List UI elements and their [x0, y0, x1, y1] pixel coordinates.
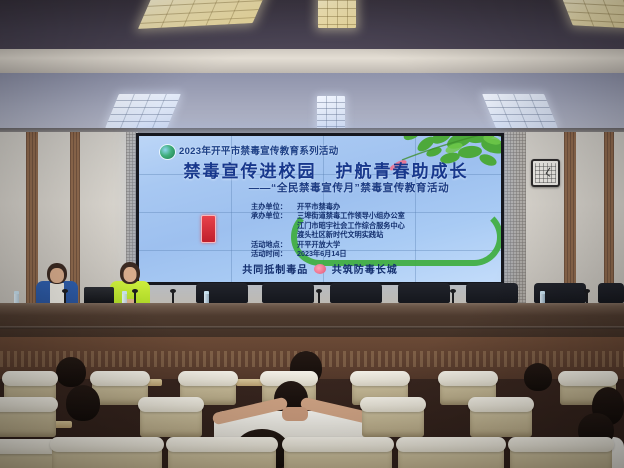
stage-chair [466, 283, 518, 303]
seat-cover [282, 437, 394, 452]
seat-cover [90, 371, 150, 386]
clock-face [535, 163, 556, 183]
projection-screen: 2023年开平市禁毒宣传教育系列活动 禁毒宣传进校园 护航青春助成长 ——“全民… [136, 133, 504, 285]
seat-cover [166, 437, 278, 452]
info-value: 渡头社区新时代文明实践站 [297, 230, 383, 239]
info-row: 承办单位： 三埠街道禁毒工作领导小组办公室 [251, 211, 405, 220]
info-value: 2023年6月14日 [297, 249, 347, 258]
info-row: 活动地点： 开平开放大学 [251, 240, 405, 249]
seat [52, 441, 162, 468]
info-row: 活动时间： 2023年6月14日 [251, 249, 405, 258]
slide-info-block: 主办单位： 开平市禁毒办 承办单位： 三埠街道禁毒工作领导小组办公室 江门市昭宇… [251, 202, 405, 258]
info-value: 开平开放大学 [297, 240, 340, 249]
slide-main-title: 禁毒宣传进校园 护航青春助成长 [161, 157, 491, 182]
seat [284, 441, 392, 468]
seat [398, 441, 504, 468]
info-value: 三埠街道禁毒工作领导小组办公室 [297, 211, 405, 220]
wall-clock-icon [531, 159, 560, 187]
photo-scene: 2023年开平市禁毒宣传教育系列活动 禁毒宣传进校园 护航青春助成长 ——“全民… [0, 0, 624, 468]
ceiling-beam [0, 49, 624, 75]
student-head [524, 363, 552, 391]
ceiling-upper [0, 0, 624, 52]
slide-header-line: 2023年开平市禁毒宣传教育系列活动 [179, 143, 339, 157]
info-row: 渡头社区新时代文明实践站 [251, 230, 405, 239]
slogan-right-text: 共筑防毒长城 [332, 265, 398, 276]
speaker-left-face [50, 268, 64, 283]
info-key: 活动时间： [251, 249, 297, 258]
stage-chair [598, 283, 624, 303]
ceiling-light-panel-6 [482, 94, 558, 128]
student-head [66, 385, 100, 421]
seat-cover [0, 397, 58, 412]
slogan-left-text: 共同抵制毒品 [242, 265, 308, 276]
audience-area [0, 337, 624, 468]
seat-cover [50, 437, 164, 452]
seat-cover [350, 371, 410, 386]
speaker-left [34, 261, 80, 305]
speaker-right-face [124, 267, 137, 282]
seat [168, 441, 276, 468]
seat-cover [138, 397, 204, 412]
seat [140, 401, 202, 437]
seat-cover [508, 437, 614, 452]
info-row: 江门市昭宇社会工作综合服务中心 [251, 221, 405, 230]
seat [362, 401, 424, 437]
stage-chair [262, 283, 314, 303]
seat-cover [558, 371, 618, 386]
info-key: 活动地点： [251, 240, 297, 249]
slogan-flower-icon [314, 264, 326, 274]
student-head [56, 357, 86, 387]
presider-table-lip [0, 326, 624, 329]
stage-chair [398, 283, 450, 303]
slide-slogan: 共同抵制毒品 共筑防毒长城 [139, 261, 501, 276]
slide-content: 2023年开平市禁毒宣传教育系列活动 禁毒宣传进校园 护航青春助成长 ——“全民… [139, 136, 501, 282]
seat-cover [178, 371, 238, 386]
stage-chair [330, 283, 382, 303]
info-value: 江门市昭宇社会工作综合服务中心 [297, 221, 405, 230]
info-key: 主办单位： [251, 202, 297, 211]
info-value: 开平市禁毒办 [297, 202, 340, 211]
ceiling-light-panel-5 [317, 96, 345, 132]
student-hands [282, 407, 308, 421]
seat-cover [360, 397, 426, 412]
seat [510, 441, 612, 468]
seat-cover [468, 397, 534, 412]
red-vertical-banner-icon [201, 215, 216, 243]
info-key [251, 221, 297, 230]
info-row: 主办单位： 开平市禁毒办 [251, 202, 405, 211]
ceiling-light-panel-2 [318, 0, 356, 28]
seat-cover [396, 437, 506, 452]
seat [470, 401, 532, 437]
info-key: 承办单位： [251, 211, 297, 220]
seat-cover [2, 371, 58, 386]
seat [0, 401, 56, 437]
speaker-left-shirt [50, 283, 64, 305]
info-key [251, 230, 297, 239]
seat-cover [438, 371, 498, 386]
speaker-right [108, 260, 152, 308]
slide-subtitle: ——“全民禁毒宣传月”禁毒宣传教育活动 [199, 180, 499, 195]
